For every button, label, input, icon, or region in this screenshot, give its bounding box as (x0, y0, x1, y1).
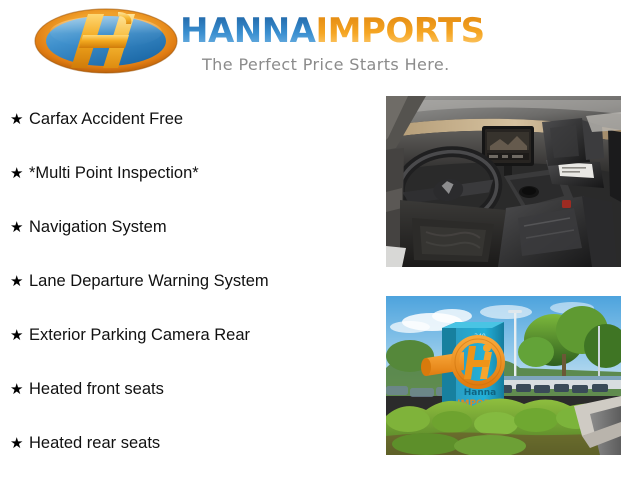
dealership-sign-photo[interactable]: 240 Hanna IMPORTS (386, 296, 621, 455)
list-item: ★ Navigation System (0, 200, 380, 254)
feature-label: Heated rear seats (29, 434, 160, 453)
header-banner: HANNAIMPORTS The Perfect Price Starts He… (0, 0, 640, 86)
feature-label: Carfax Accident Free (29, 110, 183, 129)
feature-label: *Multi Point Inspection* (29, 164, 199, 183)
star-bullet-icon: ★ (10, 220, 29, 235)
star-bullet-icon: ★ (10, 112, 29, 127)
brand-wordmark: HANNAIMPORTS (180, 14, 485, 48)
star-bullet-icon: ★ (10, 382, 29, 397)
feature-label: Exterior Parking Camera Rear (29, 326, 250, 345)
list-item: ★ Lane Departure Warning System (0, 254, 380, 308)
brand-tagline: The Perfect Price Starts Here. (202, 55, 450, 74)
star-bullet-icon: ★ (10, 274, 29, 289)
vehicle-interior-photo[interactable] (386, 96, 621, 267)
list-item: ★ Exterior Parking Camera Rear (0, 308, 380, 362)
svg-text:Hanna: Hanna (464, 388, 497, 398)
star-bullet-icon: ★ (10, 436, 29, 451)
feature-label: Lane Departure Warning System (29, 272, 269, 291)
list-item: ★ Heated front seats (0, 362, 380, 416)
brand-name-hanna: HANNA (180, 11, 316, 51)
star-bullet-icon: ★ (10, 328, 29, 343)
star-bullet-icon: ★ (10, 166, 29, 181)
brand-logo[interactable]: HANNAIMPORTS The Perfect Price Starts He… (34, 6, 504, 82)
logo-badge-icon (34, 8, 178, 74)
feature-label: Navigation System (29, 218, 167, 237)
feature-label: Heated front seats (29, 380, 164, 399)
list-item: ★ Carfax Accident Free (0, 92, 380, 146)
list-item: ★ Heated rear seats (0, 416, 380, 470)
vehicle-feature-list: ★ Carfax Accident Free ★ *Multi Point In… (0, 92, 380, 472)
list-item: ★ *Multi Point Inspection* (0, 146, 380, 200)
brand-name-imports: IMPORTS (316, 11, 485, 51)
